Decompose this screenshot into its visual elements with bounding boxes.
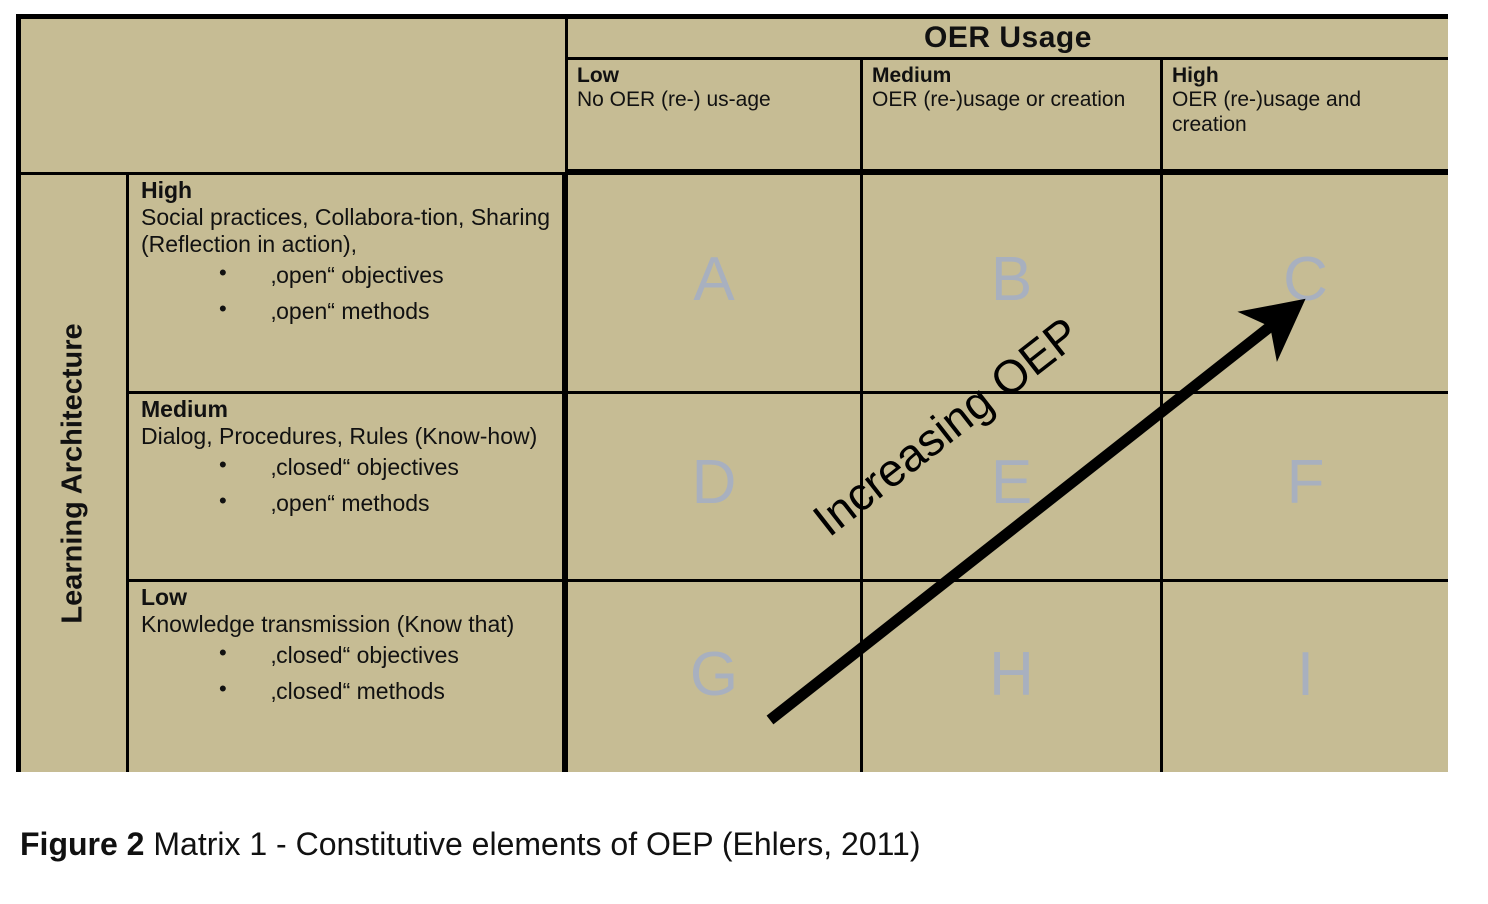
column-header-low-description: No OER (re-) us-age (577, 88, 852, 112)
matrix-cell-b[interactable]: B (860, 172, 1160, 391)
cell-letter: F (1287, 452, 1325, 514)
cell-letter: A (693, 249, 734, 311)
row-axis-title-cell: Learning Architecture (21, 172, 129, 772)
column-axis-title-cell: OER Usage (565, 19, 1448, 60)
matrix-cell-c[interactable]: C (1160, 172, 1448, 391)
column-header-low: Low No OER (re-) us-age (565, 60, 860, 172)
cell-letter: E (991, 452, 1032, 514)
row-header-low: Low Knowledge transmission (Know that) ‚… (129, 579, 565, 772)
oep-matrix-table: OER Usage Low No OER (re-) us-age Medium… (16, 14, 1448, 772)
matrix-cell-h[interactable]: H (860, 579, 1160, 772)
column-header-medium-description: OER (re-)usage or creation (872, 88, 1152, 112)
row-header-high-description: Social practices, Collabora-tion, Sharin… (141, 204, 556, 258)
list-item: ‚open“ methods (219, 486, 556, 522)
matrix-cell-g[interactable]: G (565, 579, 860, 772)
figure-caption: Figure 2 Matrix 1 - Constitutive element… (20, 826, 920, 863)
column-axis-title: OER Usage (924, 21, 1092, 55)
matrix-cell-e[interactable]: E (860, 391, 1160, 579)
cell-letter: C (1283, 249, 1328, 311)
column-header-high-description: OER (re-)usage and creation (1172, 88, 1440, 137)
matrix-cell-d[interactable]: D (565, 391, 860, 579)
figure-number: Figure 2 (20, 826, 144, 862)
row-header-medium-label: Medium (141, 396, 556, 423)
cell-letter: D (692, 452, 737, 514)
column-header-medium-label: Medium (872, 64, 1152, 88)
row-header-high: High Social practices, Collabora-tion, S… (129, 172, 565, 391)
row-header-low-bullets: ‚closed“ objectives ‚closed“ methods (141, 638, 556, 709)
row-header-medium: Medium Dialog, Procedures, Rules (Know-h… (129, 391, 565, 579)
list-item: ‚open“ objectives (219, 258, 556, 294)
cell-letter: I (1297, 644, 1314, 706)
cell-letter: H (989, 644, 1034, 706)
list-item: ‚closed“ objectives (219, 638, 556, 674)
figure-container: OER Usage Low No OER (re-) us-age Medium… (0, 0, 1488, 904)
row-header-low-label: Low (141, 584, 556, 611)
column-header-high-label: High (1172, 64, 1440, 88)
column-header-low-label: Low (577, 64, 852, 88)
column-header-high: High OER (re-)usage and creation (1160, 60, 1448, 172)
cell-letter: B (991, 249, 1032, 311)
figure-caption-text: Matrix 1 - Constitutive elements of OEP … (144, 826, 920, 862)
row-header-high-label: High (141, 177, 556, 204)
cell-letter: G (690, 644, 738, 706)
column-header-medium: Medium OER (re-)usage or creation (860, 60, 1160, 172)
matrix-cell-a[interactable]: A (565, 172, 860, 391)
row-header-low-description: Knowledge transmission (Know that) (141, 611, 556, 638)
row-header-medium-bullets: ‚closed“ objectives ‚open“ methods (141, 450, 556, 521)
list-item: ‚closed“ objectives (219, 450, 556, 486)
row-axis-title: Learning Architecture (57, 323, 90, 623)
row-header-medium-description: Dialog, Procedures, Rules (Know-how) (141, 423, 556, 450)
matrix-cell-f[interactable]: F (1160, 391, 1448, 579)
list-item: ‚open“ methods (219, 294, 556, 330)
list-item: ‚closed“ methods (219, 674, 556, 710)
matrix-cell-i[interactable]: I (1160, 579, 1448, 772)
row-header-high-bullets: ‚open“ objectives ‚open“ methods (141, 258, 556, 329)
